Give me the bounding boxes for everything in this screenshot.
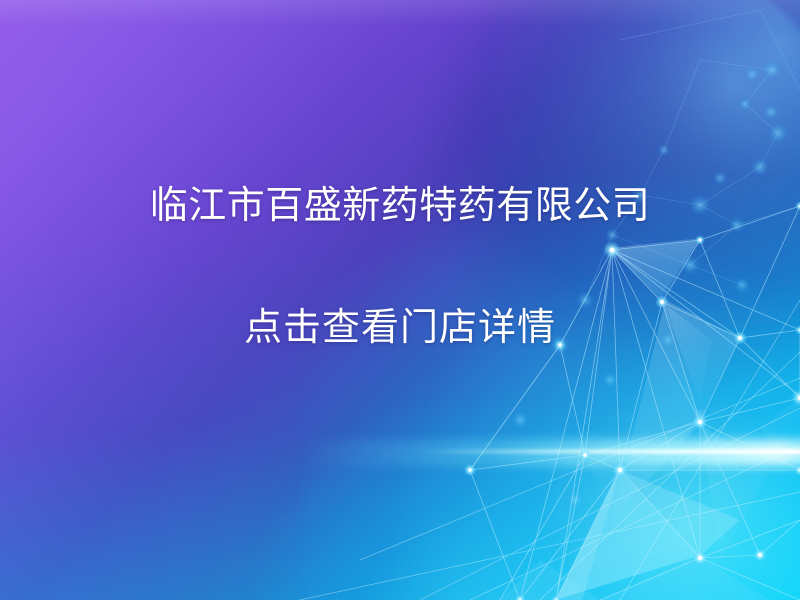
banner-text-layer: 临江市百盛新药特药有限公司 点击查看门店详情 <box>0 0 800 600</box>
promo-banner[interactable]: 临江市百盛新药特药有限公司 点击查看门店详情 <box>0 0 800 600</box>
store-detail-link[interactable]: 点击查看门店详情 <box>0 305 800 351</box>
company-title: 临江市百盛新药特药有限公司 <box>0 183 800 229</box>
